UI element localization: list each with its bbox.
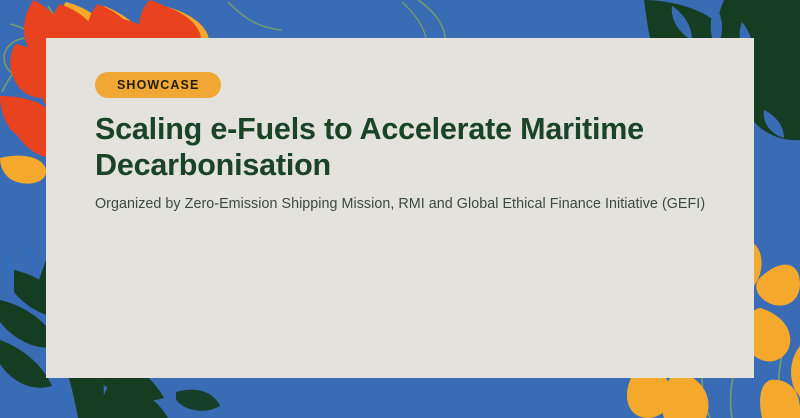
event-poster: SHOWCASE Scaling e-Fuels to Accelerate M… (0, 0, 800, 418)
showcase-badge: SHOWCASE (95, 72, 221, 98)
card-content: SHOWCASE Scaling e-Fuels to Accelerate M… (95, 72, 724, 212)
event-card: SHOWCASE Scaling e-Fuels to Accelerate M… (46, 38, 754, 378)
event-title: Scaling e-Fuels to Accelerate Maritime D… (95, 112, 695, 183)
event-organizers: Organized by Zero-Emission Shipping Miss… (95, 196, 724, 212)
